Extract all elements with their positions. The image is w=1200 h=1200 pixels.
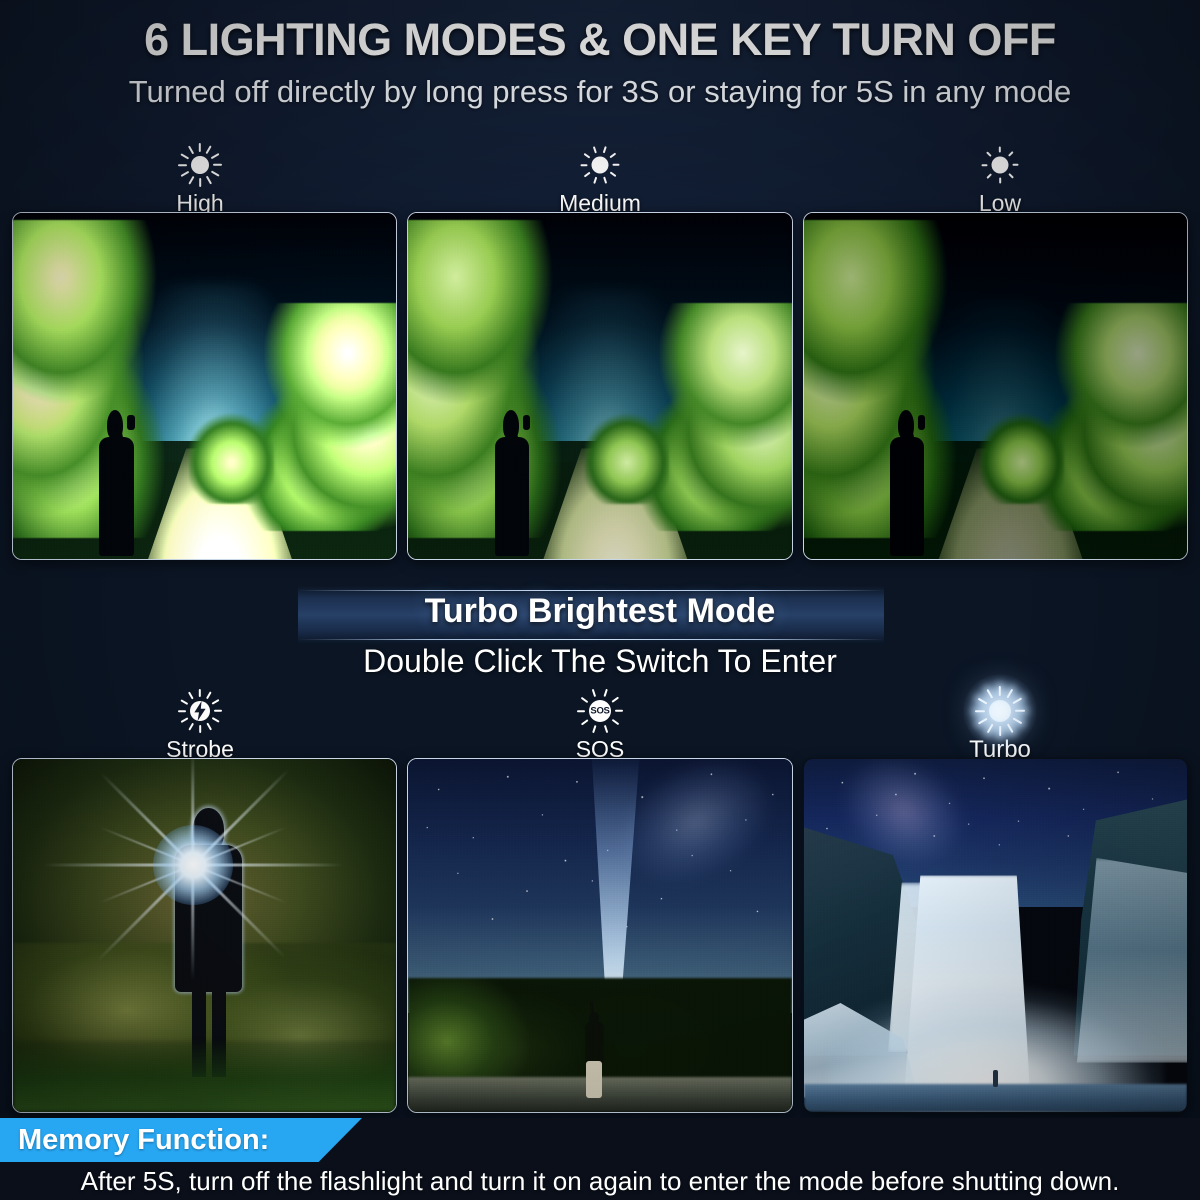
sun-ray: [199, 178, 201, 187]
sun-ray: [999, 178, 1001, 184]
photo-panel-high: [12, 212, 397, 560]
sun-ray: [1008, 151, 1014, 157]
sun-ray: [188, 691, 194, 699]
turbo-banner-subtitle: Double Click The Switch To Enter: [0, 643, 1200, 680]
sun-ray: [593, 146, 597, 153]
memory-function-badge-label: Memory Function:: [18, 1120, 269, 1160]
page-headline: 6 LIGHTING MODES & ONE KEY TURN OFF: [0, 14, 1200, 66]
photo-panel-strobe: [12, 758, 397, 1113]
sun-ray: [180, 717, 188, 723]
mode-item-sos: SOS SOS: [400, 688, 800, 764]
sun-disc: [989, 700, 1011, 722]
sun-ray: [603, 177, 607, 184]
sun-ray: [611, 697, 619, 704]
mode-item-medium: Medium: [400, 142, 800, 217]
sun-ray: [199, 689, 201, 697]
scene-forest-path-medium: [408, 213, 791, 559]
sun-ray: [199, 143, 201, 152]
photo-grain: [408, 213, 791, 559]
mode-item-turbo: Turbo: [800, 688, 1200, 764]
memory-function-strip: Memory Function: After 5S, turn off the …: [0, 1118, 1200, 1200]
sun-medium-icon: [577, 142, 623, 188]
sun-ray: [999, 726, 1001, 736]
sun-ray: [178, 710, 186, 712]
scene-night-sky-beam: [408, 759, 791, 1112]
photo-grid-top: [0, 212, 1200, 560]
turbo-banner-title: Turbo Brightest Mode: [0, 592, 1200, 631]
sun-ray: [180, 170, 189, 177]
mode-label-row-top: High Medium Low: [0, 142, 1200, 217]
sun-ray: [592, 725, 597, 733]
sun-sos-icon: SOS: [577, 688, 623, 734]
sun-ray: [584, 153, 591, 159]
sun-high-icon: [177, 142, 223, 188]
scene-strobe-backlit-person: [13, 759, 396, 1112]
sun-ray: [986, 689, 993, 699]
sun-disc: [592, 157, 609, 174]
sun-ray: [603, 689, 608, 697]
lightning-bolt-icon: [192, 701, 208, 721]
sos-inner-label: SOS: [590, 706, 609, 717]
sun-ray: [592, 689, 597, 697]
sun-ray: [611, 719, 619, 726]
sun-ray: [978, 717, 988, 724]
sun-ray: [982, 164, 988, 166]
sun-ray: [188, 145, 195, 154]
sun-turbo-icon: [977, 688, 1023, 734]
sun-ray: [609, 153, 616, 159]
sun-ray: [1006, 689, 1013, 699]
sun-ray: [211, 153, 220, 160]
photo-grain: [13, 759, 396, 1112]
sun-ray: [211, 170, 220, 177]
sun-ray: [603, 725, 608, 733]
mode-label-row-bottom: Strobe SOS SOS Turbo: [0, 688, 1200, 764]
photo-grain: [408, 759, 791, 1112]
sun-ray: [577, 710, 585, 712]
sun-ray: [999, 686, 1001, 696]
sun-ray: [999, 147, 1001, 153]
sun-ray: [613, 164, 620, 166]
sun-ray: [212, 717, 220, 723]
sun-ray: [1012, 717, 1022, 724]
sun-ray: [593, 177, 597, 184]
sun-ray: [1013, 164, 1019, 166]
photo-grain: [804, 213, 1187, 559]
scene-illuminated-waterfall: [804, 759, 1187, 1112]
photo-panel-low: [803, 212, 1188, 560]
sun-ray: [986, 151, 992, 157]
sun-ray: [986, 173, 992, 179]
sun-ray: [212, 699, 220, 705]
sun-ray: [1008, 173, 1014, 179]
sun-ray: [205, 176, 212, 185]
sun-ray: [1012, 697, 1022, 704]
sun-disc: [992, 157, 1009, 174]
photo-grain: [804, 759, 1187, 1112]
sun-ray: [206, 723, 212, 731]
memory-function-note: After 5S, turn off the flashlight and tu…: [0, 1162, 1200, 1200]
mode-item-high: High: [0, 142, 400, 217]
photo-panel-medium: [407, 212, 792, 560]
sun-ray: [978, 697, 988, 704]
sun-ray: [1006, 723, 1013, 733]
photo-grid-bottom: [0, 758, 1200, 1113]
photo-panel-turbo: [803, 758, 1188, 1113]
sun-ray: [603, 146, 607, 153]
sun-ray: [205, 145, 212, 154]
sun-ray: [213, 164, 222, 166]
sun-low-icon: [977, 142, 1023, 188]
sun-bolt-icon: [177, 688, 223, 734]
photo-grain: [13, 213, 396, 559]
mode-item-strobe: Strobe: [0, 688, 400, 764]
sun-ray: [180, 699, 188, 705]
sun-ray: [206, 691, 212, 699]
sun-ray: [214, 710, 222, 712]
sun-ray: [581, 164, 588, 166]
sun-ray: [1015, 710, 1025, 712]
sun-ray: [188, 176, 195, 185]
mode-item-low: Low: [800, 142, 1200, 217]
scene-forest-path-high: [13, 213, 396, 559]
photo-panel-sos: [407, 758, 792, 1113]
sun-ray: [581, 697, 589, 704]
sun-ray: [609, 171, 616, 177]
sun-ray: [581, 719, 589, 726]
scene-forest-path-low: [804, 213, 1187, 559]
sun-ray: [975, 710, 985, 712]
sun-ray: [584, 171, 591, 177]
sun-ray: [178, 164, 187, 166]
sun-ray: [180, 153, 189, 160]
sun-ray: [986, 723, 993, 733]
sun-ray: [199, 725, 201, 733]
page-subheadline: Turned off directly by long press for 3S…: [0, 74, 1200, 110]
sun-ray: [188, 723, 194, 731]
sun-ray: [615, 710, 623, 712]
sun-disc: [191, 156, 209, 174]
